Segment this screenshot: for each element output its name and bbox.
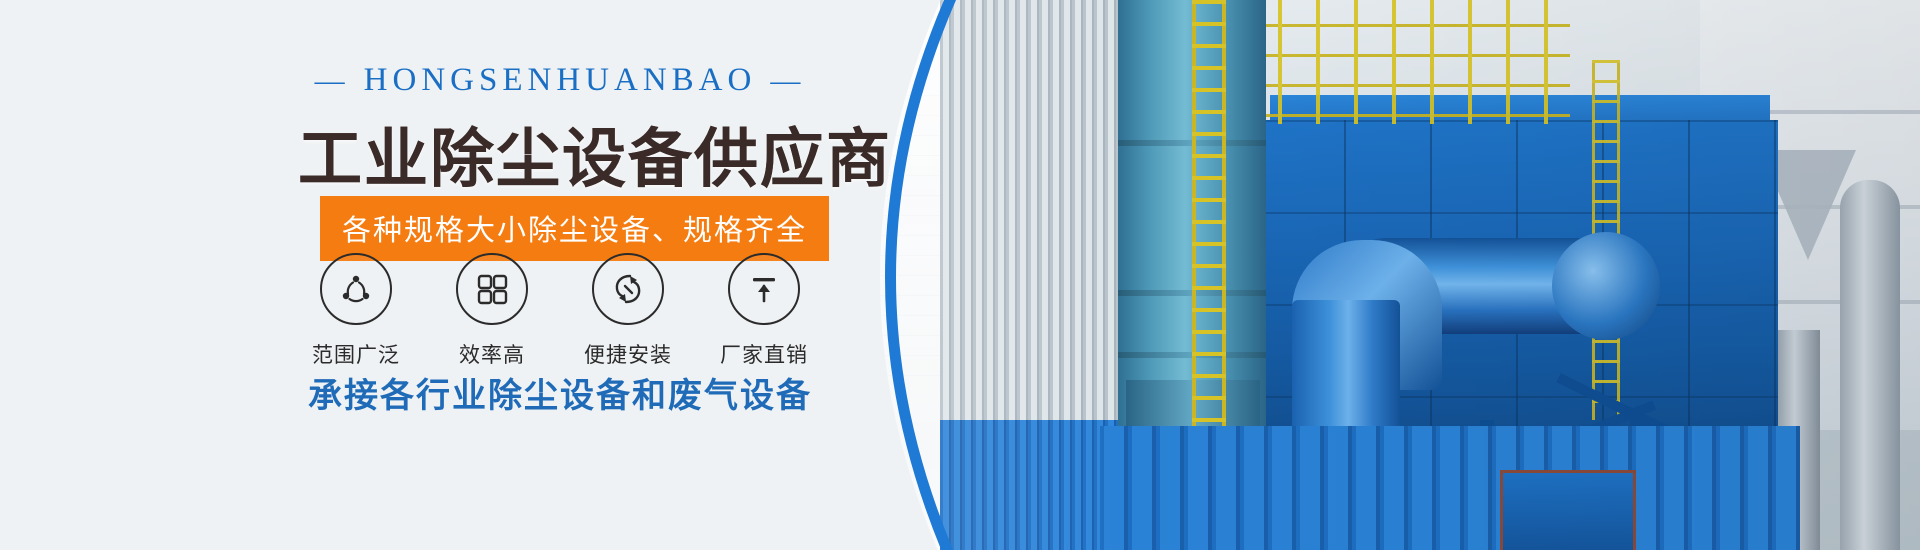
brand-eyebrow: —HONGSENHUANBAO— (300, 62, 820, 99)
page-title: 工业除尘设备供应商 (298, 108, 828, 200)
hero-banner: —HONGSENHUANBAO— 工业除尘设备供应商 各种规格大小除尘设备、规格… (0, 0, 1920, 550)
feature-label: 效率高 (436, 339, 548, 369)
feature-label: 便捷安装 (572, 339, 684, 369)
tagline: 承接各行业除尘设备和废气设备 (300, 368, 820, 417)
feature-label: 厂家直销 (708, 339, 820, 369)
arrow-up-to-line-icon (728, 253, 800, 325)
feature-label: 范围广泛 (300, 339, 412, 369)
share-nodes-icon (320, 253, 392, 325)
dash-right-icon: — (756, 64, 819, 98)
wrench-rotate-icon (592, 253, 664, 325)
feature-item-efficiency[interactable]: 效率高 (436, 253, 548, 369)
feature-list: 范围广泛 效率高 (300, 253, 820, 369)
hero-content: —HONGSENHUANBAO— 工业除尘设备供应商 各种规格大小除尘设备、规格… (0, 0, 1100, 550)
grid-four-squares-icon (456, 253, 528, 325)
dash-left-icon: — (301, 64, 364, 98)
brand-eyebrow-text: HONGSENHUANBAO (364, 62, 757, 98)
feature-item-factory-direct[interactable]: 厂家直销 (708, 253, 820, 369)
feature-item-scope[interactable]: 范围广泛 (300, 253, 412, 369)
feature-item-install[interactable]: 便捷安装 (572, 253, 684, 369)
orange-highlight-bar: 各种规格大小除尘设备、规格齐全 (320, 196, 829, 261)
